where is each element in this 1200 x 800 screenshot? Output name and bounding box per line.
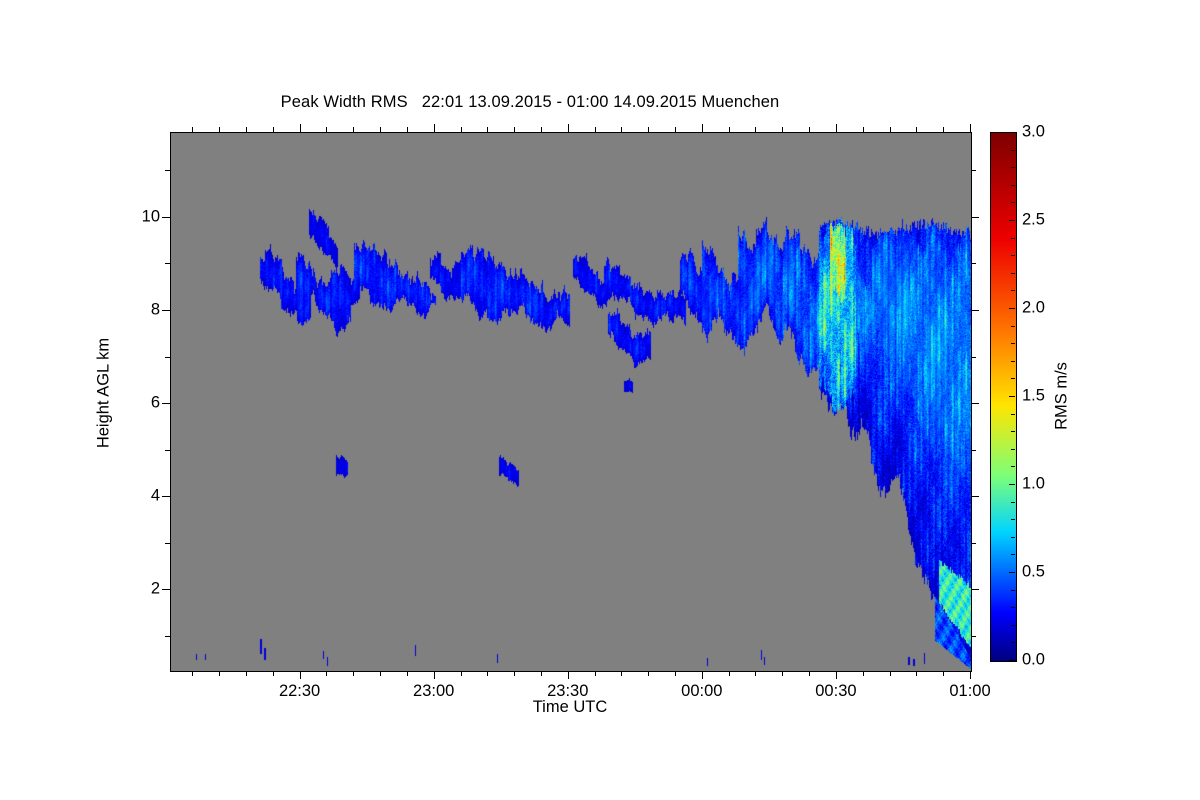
colorbar-minor-tick <box>1011 290 1015 291</box>
x-minor-tick <box>273 671 274 676</box>
colorbar-minor-tick <box>1011 185 1015 186</box>
x-minor-tick <box>729 671 730 676</box>
y-major-tick <box>162 403 170 404</box>
x-minor-tick-top <box>407 127 408 132</box>
x-minor-tick-top <box>353 127 354 132</box>
x-minor-tick-top <box>461 127 462 132</box>
colorbar-minor-tick <box>1011 449 1015 450</box>
colorbar-minor-tick <box>1011 519 1015 520</box>
y-major-tick <box>162 217 170 218</box>
x-major-tick <box>568 671 569 679</box>
colorbar-major-tick <box>1009 660 1015 661</box>
heatmap-data-canvas <box>171 133 971 671</box>
x-major-tick <box>702 671 703 679</box>
x-tick-label: 00:00 <box>681 682 722 701</box>
y-tick-label: 10 <box>126 207 160 226</box>
colorbar-minor-tick <box>1011 255 1015 256</box>
colorbar-minor-tick <box>1011 238 1015 239</box>
x-major-tick <box>836 671 837 679</box>
x-minor-tick <box>407 671 408 676</box>
x-minor-tick-top <box>541 127 542 132</box>
colorbar-minor-tick <box>1011 273 1015 274</box>
x-major-tick <box>970 671 971 679</box>
x-major-tick <box>434 671 435 679</box>
x-tick-label: 22:30 <box>279 682 320 701</box>
y-major-tick-right <box>971 217 979 218</box>
x-minor-tick-top <box>782 127 783 132</box>
colorbar-tick-label: 1.0 <box>1022 475 1045 494</box>
y-minor-tick-right <box>971 263 976 264</box>
colorbar-minor-tick <box>1011 590 1015 591</box>
y-minor-tick-right <box>971 450 976 451</box>
colorbar-major-tick <box>1009 484 1015 485</box>
x-major-tick <box>300 671 301 679</box>
y-tick-label: 4 <box>126 487 160 506</box>
y-tick-label: 2 <box>126 580 160 599</box>
y-minor-tick <box>165 450 170 451</box>
x-minor-tick-top <box>916 127 917 132</box>
x-major-tick-top <box>568 124 569 132</box>
colorbar-minor-tick <box>1011 625 1015 626</box>
x-minor-tick <box>192 671 193 676</box>
colorbar-tick-label: 2.0 <box>1022 299 1045 318</box>
x-minor-tick <box>675 671 676 676</box>
x-minor-tick-top <box>675 127 676 132</box>
x-minor-tick-top <box>246 127 247 132</box>
figure-canvas: Peak Width RMS 22:01 13.09.2015 - 01:00 … <box>0 0 1200 800</box>
x-tick-label: 23:00 <box>413 682 454 701</box>
x-minor-tick-top <box>943 127 944 132</box>
heatmap-plot-area[interactable] <box>170 132 972 672</box>
chart-title: Peak Width RMS 22:01 13.09.2015 - 01:00 … <box>0 93 1060 112</box>
x-major-tick-top <box>836 124 837 132</box>
x-minor-tick-top <box>863 127 864 132</box>
colorbar-minor-tick <box>1011 326 1015 327</box>
x-tick-label: 01:00 <box>949 682 990 701</box>
x-minor-tick <box>621 671 622 676</box>
y-minor-tick <box>165 543 170 544</box>
y-tick-label: 6 <box>126 394 160 413</box>
colorbar-minor-tick <box>1011 502 1015 503</box>
x-minor-tick <box>380 671 381 676</box>
y-minor-tick-right <box>971 636 976 637</box>
x-minor-tick <box>648 671 649 676</box>
x-minor-tick <box>782 671 783 676</box>
x-minor-tick-top <box>273 127 274 132</box>
x-minor-tick-top <box>729 127 730 132</box>
x-major-tick-top <box>970 124 971 132</box>
colorbar-minor-tick <box>1011 642 1015 643</box>
x-major-tick-top <box>702 124 703 132</box>
colorbar-minor-tick <box>1011 167 1015 168</box>
x-minor-tick <box>541 671 542 676</box>
colorbar-tick-label: 2.5 <box>1022 211 1045 230</box>
colorbar-tick-label: 0.0 <box>1022 651 1045 670</box>
y-minor-tick <box>165 263 170 264</box>
x-minor-tick-top <box>890 127 891 132</box>
x-minor-tick-top <box>648 127 649 132</box>
colorbar-gradient <box>991 133 1016 661</box>
colorbar-tick-label: 1.5 <box>1022 387 1045 406</box>
x-minor-tick <box>890 671 891 676</box>
colorbar-minor-tick <box>1011 378 1015 379</box>
x-minor-tick <box>595 671 596 676</box>
y-major-tick <box>162 589 170 590</box>
y-major-tick <box>162 496 170 497</box>
y-minor-tick <box>165 636 170 637</box>
x-minor-tick-top <box>380 127 381 132</box>
y-axis-label: Height AGL km <box>95 338 114 448</box>
x-minor-tick-top <box>192 127 193 132</box>
x-minor-tick <box>326 671 327 676</box>
x-minor-tick-top <box>621 127 622 132</box>
x-minor-tick-top <box>219 127 220 132</box>
colorbar-major-tick <box>1009 220 1015 221</box>
x-minor-tick-top <box>595 127 596 132</box>
y-minor-tick-right <box>971 170 976 171</box>
colorbar-minor-tick <box>1011 202 1015 203</box>
x-minor-tick-top <box>809 127 810 132</box>
colorbar-tick-label: 3.0 <box>1022 123 1045 142</box>
y-major-tick-right <box>971 496 979 497</box>
colorbar-minor-tick <box>1011 607 1015 608</box>
x-major-tick-top <box>434 124 435 132</box>
y-tick-label: 8 <box>126 300 160 319</box>
x-minor-tick <box>809 671 810 676</box>
y-major-tick <box>162 310 170 311</box>
x-minor-tick <box>461 671 462 676</box>
x-minor-tick-top <box>514 127 515 132</box>
x-tick-label: 00:30 <box>815 682 856 701</box>
colorbar-minor-tick <box>1011 414 1015 415</box>
x-major-tick-top <box>300 124 301 132</box>
x-minor-tick <box>863 671 864 676</box>
x-minor-tick <box>487 671 488 676</box>
colorbar-minor-tick <box>1011 431 1015 432</box>
colorbar-major-tick <box>1009 572 1015 573</box>
y-major-tick-right <box>971 589 979 590</box>
colorbar-tick-label: 0.5 <box>1022 563 1045 582</box>
x-minor-tick <box>353 671 354 676</box>
x-minor-tick-top <box>755 127 756 132</box>
colorbar-minor-tick <box>1011 343 1015 344</box>
x-minor-tick-top <box>487 127 488 132</box>
y-minor-tick-right <box>971 543 976 544</box>
x-minor-tick <box>219 671 220 676</box>
x-minor-tick <box>514 671 515 676</box>
x-minor-tick <box>755 671 756 676</box>
y-minor-tick <box>165 357 170 358</box>
colorbar[interactable] <box>990 132 1017 662</box>
colorbar-major-tick <box>1009 132 1015 133</box>
colorbar-minor-tick <box>1011 150 1015 151</box>
x-axis-label: Time UTC <box>533 698 608 717</box>
y-major-tick-right <box>971 403 979 404</box>
colorbar-title: RMS m/s <box>1053 362 1072 430</box>
colorbar-major-tick <box>1009 396 1015 397</box>
x-minor-tick-top <box>326 127 327 132</box>
colorbar-minor-tick <box>1011 361 1015 362</box>
x-minor-tick <box>246 671 247 676</box>
colorbar-minor-tick <box>1011 554 1015 555</box>
x-minor-tick <box>916 671 917 676</box>
x-minor-tick <box>943 671 944 676</box>
y-major-tick-right <box>971 310 979 311</box>
y-minor-tick-right <box>971 357 976 358</box>
y-minor-tick <box>165 170 170 171</box>
colorbar-major-tick <box>1009 308 1015 309</box>
colorbar-minor-tick <box>1011 537 1015 538</box>
colorbar-minor-tick <box>1011 466 1015 467</box>
